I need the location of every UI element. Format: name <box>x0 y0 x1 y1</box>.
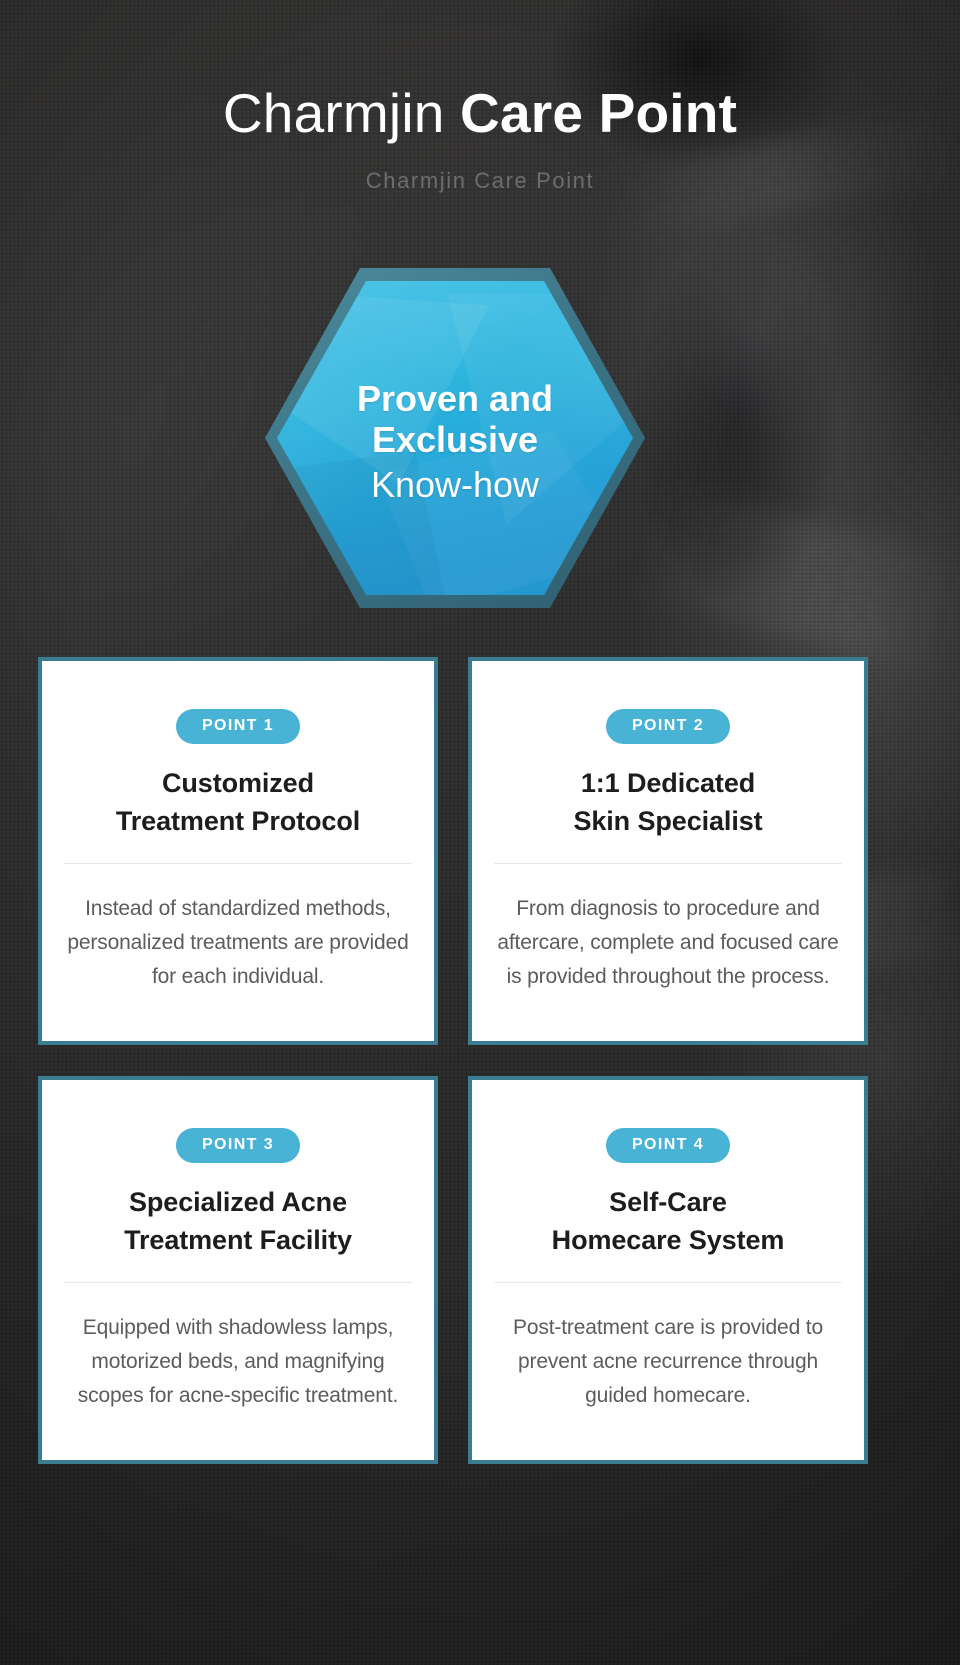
point-title-3: Specialized AcneTreatment Facility <box>124 1183 352 1260</box>
card-divider <box>64 1282 412 1283</box>
point-card-grid: POINT 1 CustomizedTreatment Protocol Ins… <box>38 657 868 1464</box>
point-title-2: 1:1 DedicatedSkin Specialist <box>573 764 762 841</box>
point-title-3-text: Specialized AcneTreatment Facility <box>124 1187 352 1255</box>
point-title-4: Self-CareHomecare System <box>552 1183 785 1260</box>
point-body-3: Equipped with shadowless lamps, motorize… <box>64 1311 412 1413</box>
point-title-1-text: CustomizedTreatment Protocol <box>116 768 360 836</box>
point-title-2-text: 1:1 DedicatedSkin Specialist <box>573 768 762 836</box>
page-title: Charmjin Care Point <box>0 86 960 141</box>
hexagon-label-group: Proven and Exclusive Know-how <box>277 281 633 595</box>
page-header: Charmjin Care Point Charmjin Care Point <box>0 0 960 194</box>
page-subtitle: Charmjin Care Point <box>0 168 960 194</box>
point-title-1: CustomizedTreatment Protocol <box>116 764 360 841</box>
point-card-2: POINT 2 1:1 DedicatedSkin Specialist Fro… <box>468 657 868 1045</box>
card-divider <box>64 863 412 864</box>
care-point-infographic: Charmjin Care Point Charmjin Care Point … <box>0 0 960 1665</box>
hexagon-label-line-1: Proven and <box>357 378 553 419</box>
hexagon-label-line-3: Know-how <box>371 463 539 506</box>
page-title-light: Charmjin <box>223 82 445 144</box>
point-body-4: Post-treatment care is provided to preve… <box>494 1311 842 1413</box>
point-title-4-text: Self-CareHomecare System <box>552 1187 785 1255</box>
hexagon-label-line-2: Exclusive <box>372 419 538 460</box>
point-badge-2: POINT 2 <box>606 709 730 744</box>
point-body-2: From diagnosis to procedure and aftercar… <box>494 892 842 994</box>
card-divider <box>494 1282 842 1283</box>
point-badge-4: POINT 4 <box>606 1128 730 1163</box>
point-card-1: POINT 1 CustomizedTreatment Protocol Ins… <box>38 657 438 1045</box>
point-card-4: POINT 4 Self-CareHomecare System Post-tr… <box>468 1076 868 1464</box>
page-title-bold: Care Point <box>460 82 737 144</box>
point-card-3: POINT 3 Specialized AcneTreatment Facili… <box>38 1076 438 1464</box>
point-badge-1: POINT 1 <box>176 709 300 744</box>
point-body-1: Instead of standardized methods, persona… <box>64 892 412 994</box>
point-badge-3: POINT 3 <box>176 1128 300 1163</box>
card-divider <box>494 863 842 864</box>
hexagon-badge: Proven and Exclusive Know-how <box>265 268 645 608</box>
